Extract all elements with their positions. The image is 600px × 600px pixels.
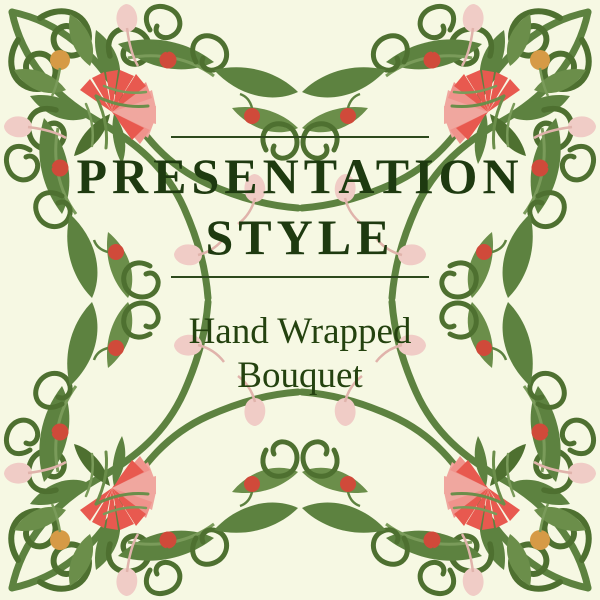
presentation-style-card: PRESENTATION STYLE Hand Wrapped Bouquet: [0, 0, 600, 600]
page-title: PRESENTATION STYLE: [76, 138, 523, 268]
text-block: PRESENTATION STYLE Hand Wrapped Bouquet: [0, 0, 600, 600]
page-subtitle: Hand Wrapped Bouquet: [189, 278, 412, 398]
